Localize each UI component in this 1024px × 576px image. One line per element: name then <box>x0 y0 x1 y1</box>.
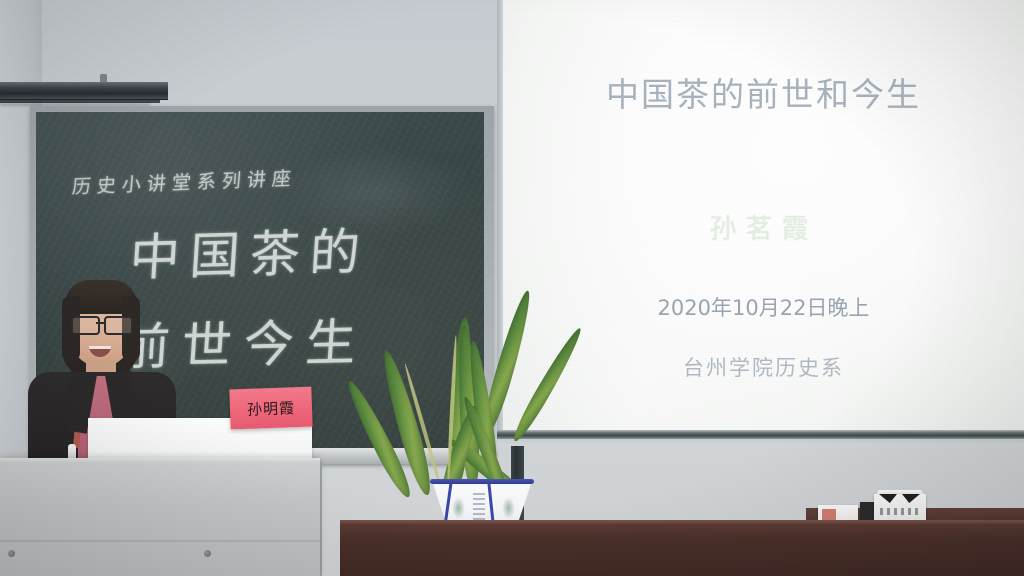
lectern <box>0 458 320 576</box>
flower-pot-motif <box>452 497 465 519</box>
flower-pot-rim <box>430 479 534 484</box>
blackboard-slide-rail-icon <box>0 82 168 100</box>
lectern-seam <box>0 540 320 542</box>
package-box-label <box>880 508 920 515</box>
lectern-screw <box>204 550 211 557</box>
slide-speaker-name: 孙茗霞 <box>503 207 1024 246</box>
name-card-text: 孙明霞 <box>247 397 296 420</box>
flower-pot-motif <box>502 497 515 519</box>
snake-plant <box>390 275 590 535</box>
glasses-icon <box>69 316 133 332</box>
lectern-screw <box>8 550 15 557</box>
lecture-hall-photo: 历史小讲堂系列讲座 中国茶的 前世今生 中国茶的前世和今生 孙茗霞 2020年1… <box>0 0 1024 576</box>
blackboard-title-line-1: 中国茶的 <box>128 212 372 290</box>
package-box-marking <box>822 509 836 520</box>
name-card: 孙明霞 <box>229 387 312 430</box>
flower-pot-inscription <box>473 493 485 523</box>
slide-title: 中国茶的前世和今生 <box>503 68 1024 116</box>
glasses-left-lens <box>71 316 100 335</box>
lectern-top-edge <box>0 458 320 463</box>
glasses-right-lens <box>104 316 133 335</box>
front-desk <box>340 524 1024 576</box>
